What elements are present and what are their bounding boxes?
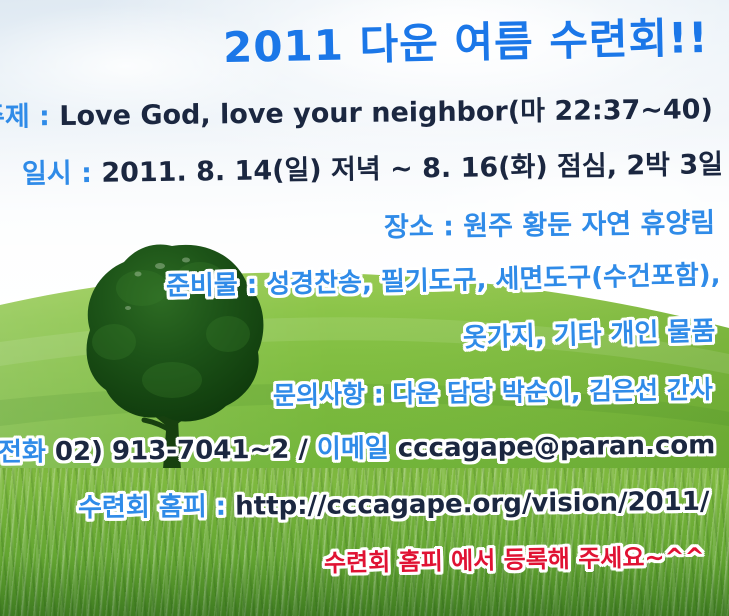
registration-cta-text: 수련회 홈피 에서 등록해 주세요~^^ (324, 543, 705, 578)
place-line: 장소 : 원주 황둔 자연 휴양림 (384, 210, 715, 242)
poster-title: 2011 다운 여름 수련회!! (223, 17, 709, 69)
poster-text-overlay: 2011 다운 여름 수련회!! 주제 : Love God, love you… (0, 0, 729, 616)
email-address: cccagape@paran.com (397, 430, 715, 463)
items-value: 성경찬송, 필기도구, 세면도구(수건포함), (266, 260, 721, 300)
topic-label: 주제 : (0, 101, 50, 133)
contact-value: 다운 담당 박순이, 김은선 간사 (392, 375, 713, 408)
retreat-poster: 2011 다운 여름 수련회!! 주제 : Love God, love you… (0, 0, 729, 616)
website-line[interactable]: 수련회 홈피 : http://cccagape.org/vision/2011… (78, 489, 710, 522)
website-label: 수련회 홈피 : (77, 492, 225, 524)
contact-label: 문의사항 : (273, 380, 384, 411)
website-url[interactable]: http://cccagape.org/vision/2011/ (235, 487, 709, 522)
items-value-2: 옷가지, 기타 개인 물품 (462, 316, 715, 353)
date-line: 일시 : 2011. 8. 14(일) 저녁 ~ 8. 16(화) 점심, 2박… (22, 151, 723, 188)
items-line-continued: 옷가지, 기타 개인 물품 (462, 318, 715, 351)
phone-number: 02) 913-7041~2 (55, 435, 290, 467)
date-value: 2011. 8. 14(일) 저녁 ~ 8. 16(화) 점심, 2박 3일 (101, 149, 723, 189)
phone-label: 전화 (0, 437, 46, 467)
items-label: 준비물 : (166, 270, 258, 302)
date-label: 일시 : (22, 158, 92, 190)
phone-email-line: 전화 02) 913-7041~2 / 이메일 cccagape@paran.c… (0, 432, 715, 466)
email-label: 이메일 (317, 434, 389, 465)
place-label: 장소 : (384, 211, 454, 243)
place-value: 원주 황둔 자연 휴양림 (463, 208, 715, 243)
items-line: 준비물 : 성경찬송, 필기도구, 세면도구(수건포함), (166, 262, 721, 300)
contact-line: 문의사항 : 다운 담당 박순이, 김은선 간사 (273, 377, 713, 408)
topic-line: 주제 : Love God, love your neighbor(마 22:3… (0, 96, 713, 131)
topic-value: Love God, love your neighbor(마 22:37~40) (59, 94, 713, 132)
phone-email-separator: / (298, 435, 308, 465)
registration-cta: 수련회 홈피 에서 등록해 주세요~^^ (324, 545, 705, 576)
